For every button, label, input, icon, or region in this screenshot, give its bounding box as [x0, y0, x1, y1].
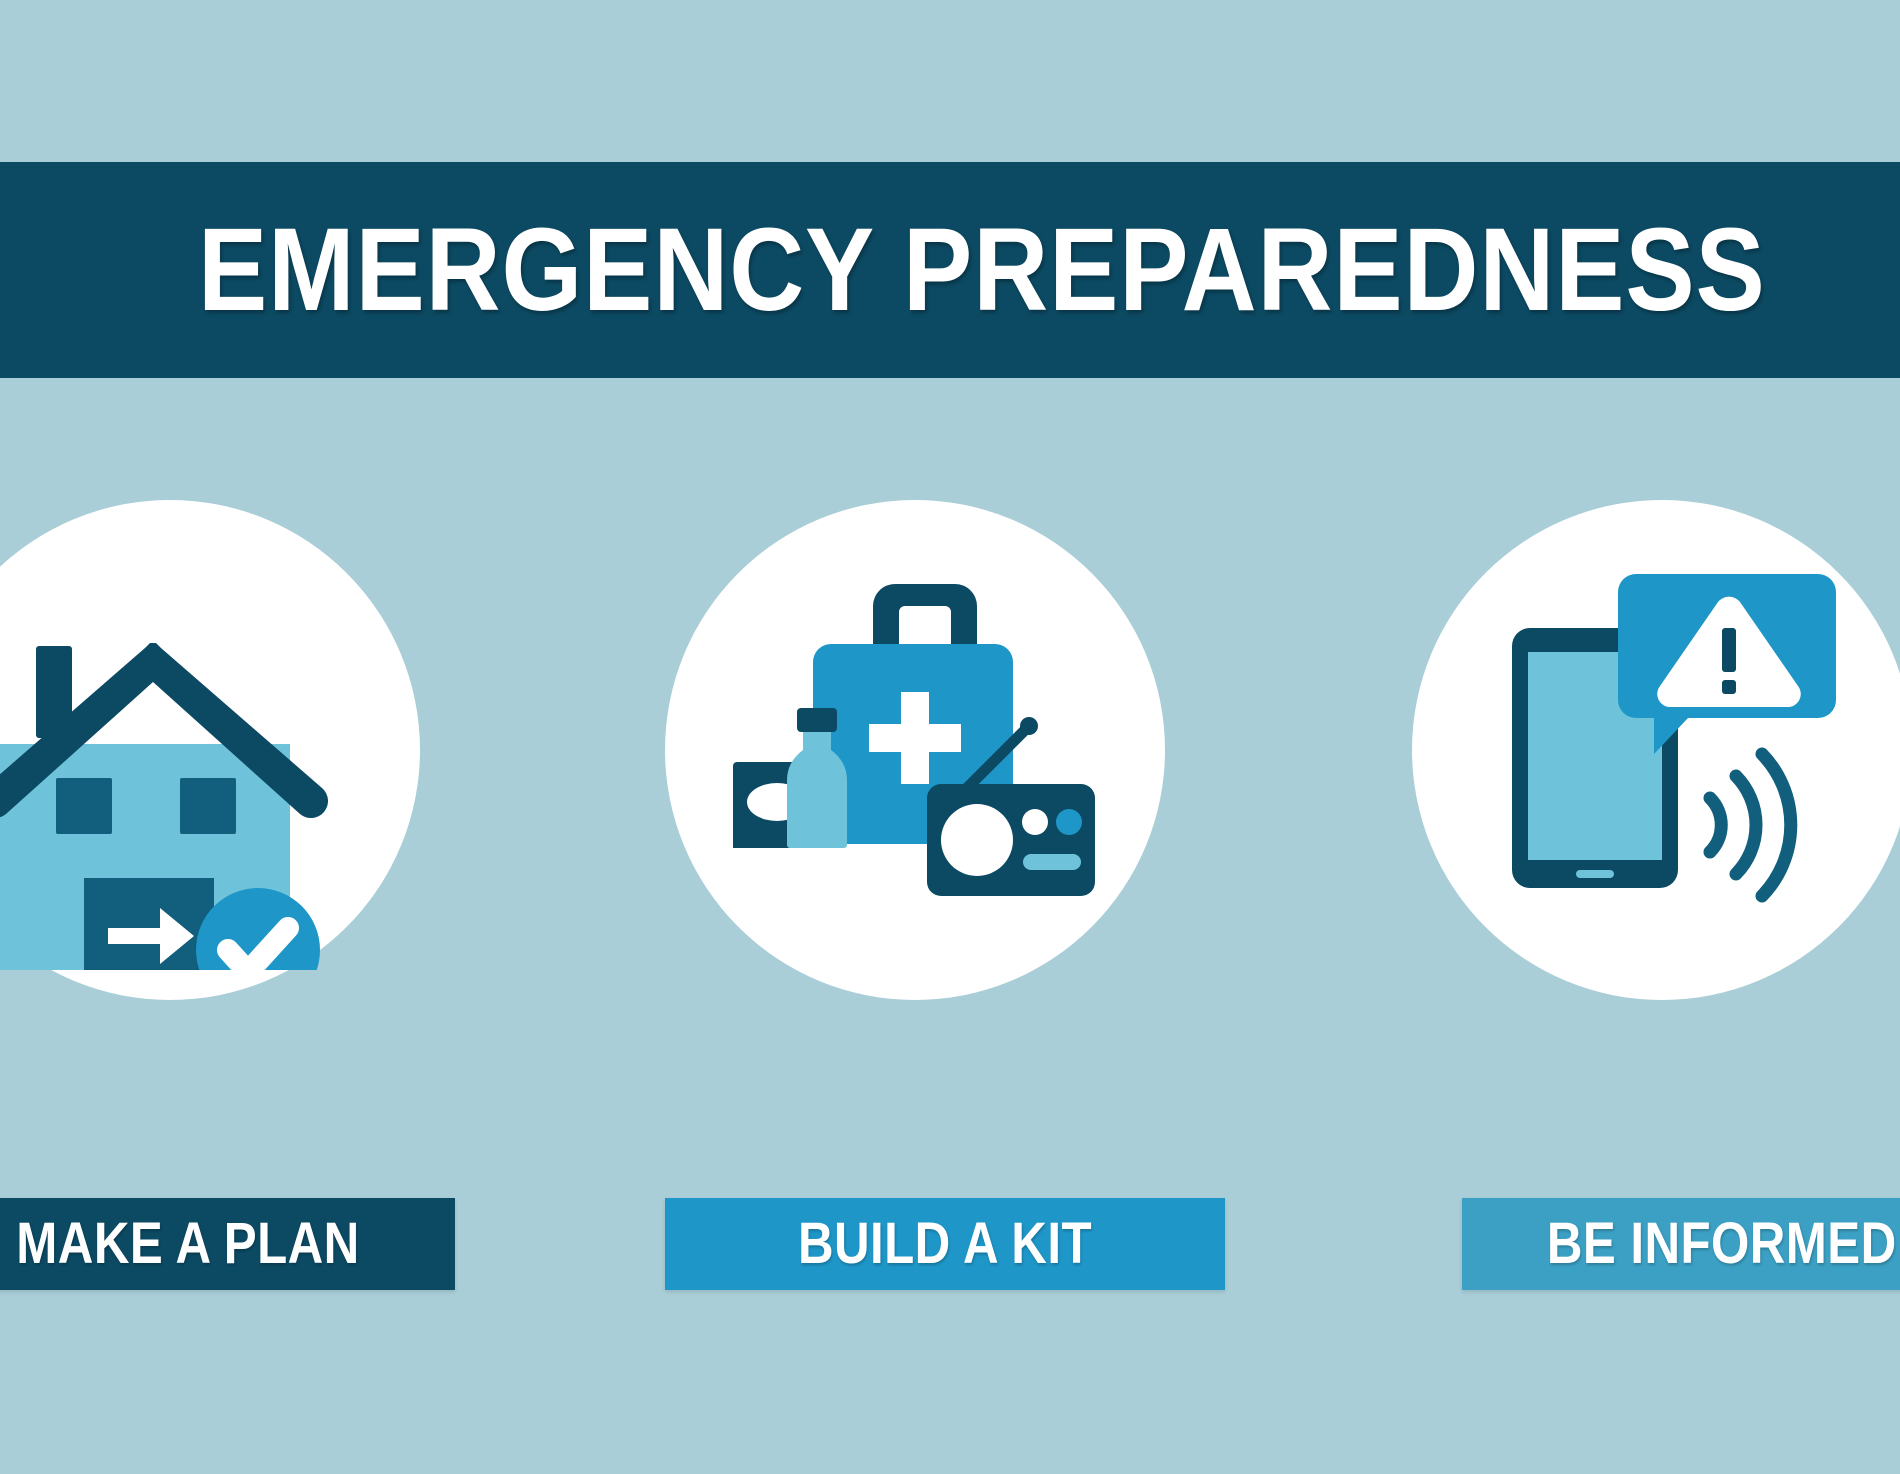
phone-alert-icon: [1412, 500, 1900, 1000]
infographic-canvas: EMERGENCY PREPAREDNESS: [0, 0, 1900, 1474]
label-bar-be-informed[interactable]: BE INFORMED: [1462, 1198, 1900, 1290]
label-text-build-a-kit: BUILD A KIT: [798, 1215, 1092, 1273]
card-make-a-plan[interactable]: [0, 500, 420, 1200]
label-bar-make-a-plan[interactable]: MAKE A PLAN: [0, 1198, 455, 1290]
card-be-informed[interactable]: [1412, 500, 1900, 1200]
house-with-checkmark-icon: [0, 500, 420, 1000]
label-text-be-informed: BE INFORMED: [1547, 1215, 1897, 1273]
emergency-kit-icon: [665, 500, 1165, 1000]
card-build-a-kit[interactable]: [665, 500, 1165, 1200]
label-text-make-a-plan: MAKE A PLAN: [16, 1215, 359, 1273]
label-bar-build-a-kit[interactable]: BUILD A KIT: [665, 1198, 1225, 1290]
